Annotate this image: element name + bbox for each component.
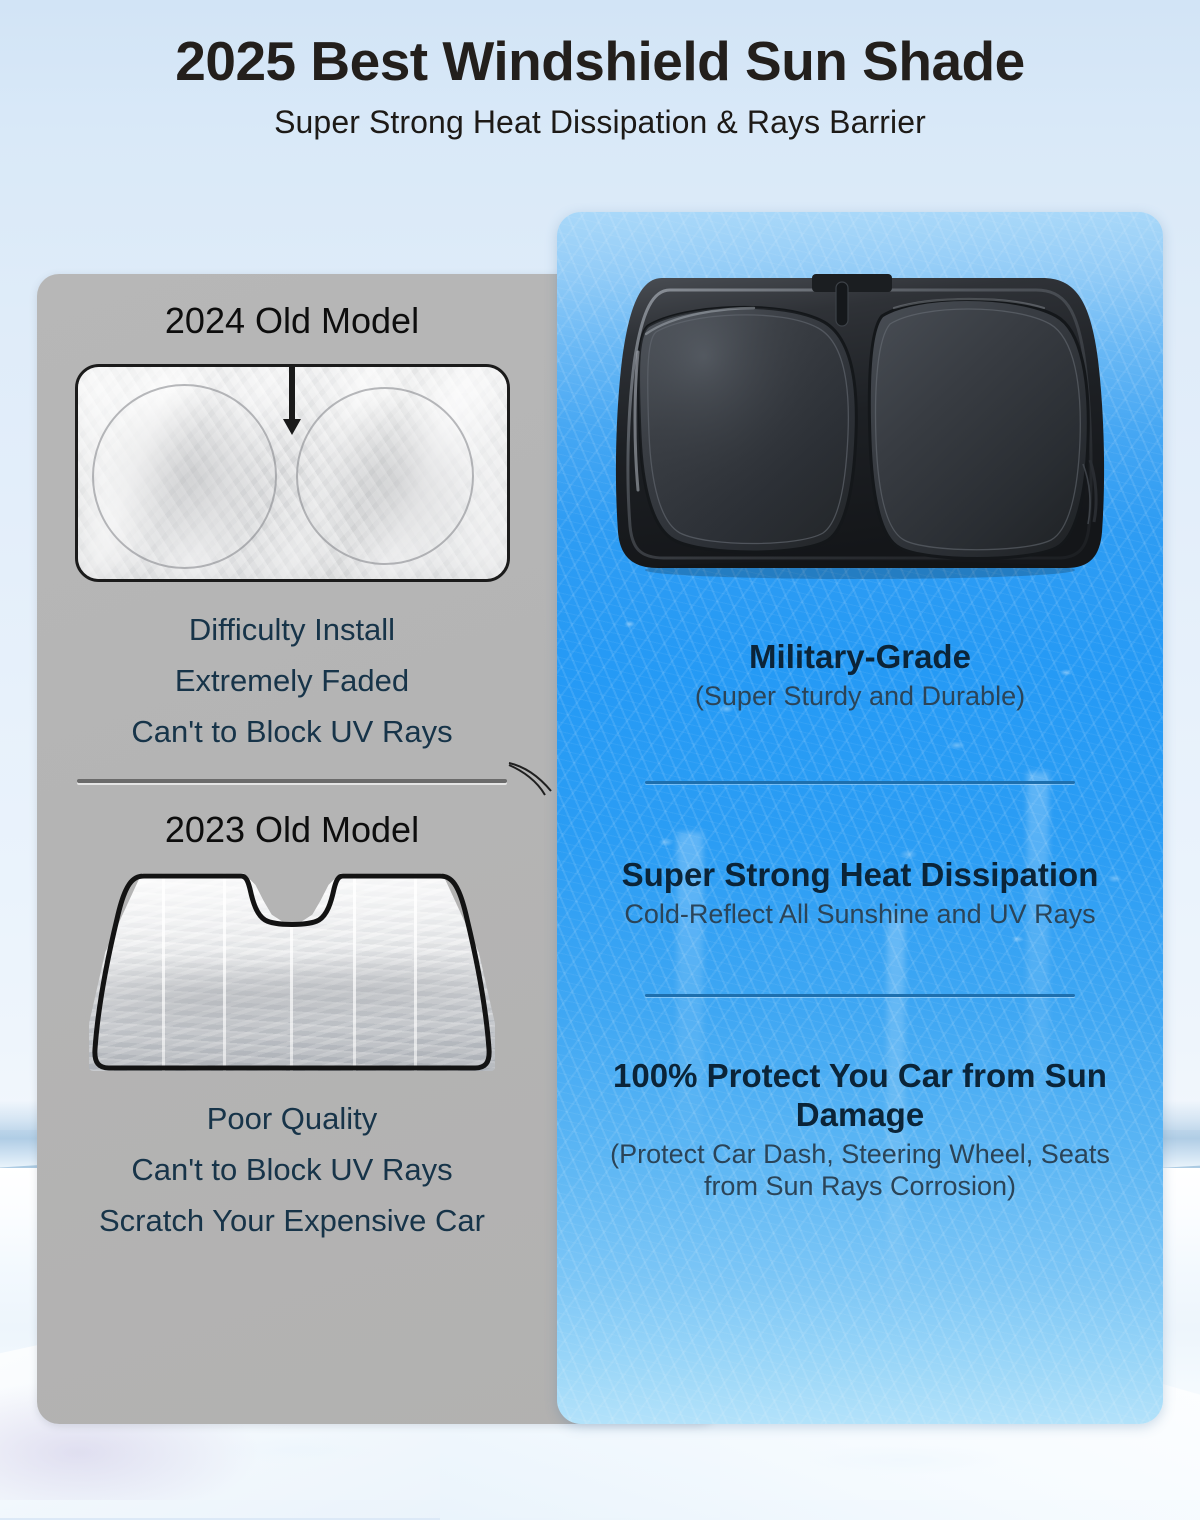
feature-block-sun-protection: 100% Protect You Car from Sun Damage (Pr…	[557, 1057, 1163, 1202]
feature-subtitle: (Protect Car Dash, Steering Wheel, Seats…	[593, 1138, 1127, 1203]
page-title: 2025 Best Windshield Sun Shade	[0, 0, 1200, 90]
panel-divider	[77, 779, 507, 783]
list-item: Scratch Your Expensive Car	[37, 1195, 547, 1246]
sun-shade-2024-image	[37, 364, 547, 582]
mirror-notch-icon	[283, 419, 301, 435]
list-item: Poor Quality	[37, 1093, 547, 1144]
old-model-section-2023: 2023 Old Model Poor Quality	[37, 809, 547, 1246]
sun-shade-2025-image	[557, 212, 1163, 588]
product-sunshade-svg	[604, 264, 1116, 588]
list-item: Difficulty Install	[37, 604, 547, 655]
feature-subtitle: Cold-Reflect All Sunshine and UV Rays	[557, 898, 1163, 930]
feature-block-military-grade: Military-Grade (Super Sturdy and Durable…	[557, 638, 1163, 713]
feature-title: 100% Protect You Car from Sun Damage	[593, 1057, 1127, 1134]
list-item: Can't to Block UV Rays	[37, 1144, 547, 1195]
loose-strap-icon	[507, 761, 553, 805]
drawbacks-list-2024: Difficulty Install Extremely Faded Can't…	[37, 604, 547, 757]
drawbacks-list-2023: Poor Quality Can't to Block UV Rays Scra…	[37, 1093, 547, 1246]
list-item: Extremely Faded	[37, 655, 547, 706]
feature-title: Super Strong Heat Dissipation	[557, 856, 1163, 894]
sun-shade-2023-image	[37, 873, 547, 1071]
old-model-section-2024: 2024 Old Model Difficulty Install Extrem…	[37, 300, 547, 757]
page-subtitle: Super Strong Heat Dissipation & Rays Bar…	[0, 90, 1200, 141]
header: 2025 Best Windshield Sun Shade Super Str…	[0, 0, 1200, 141]
feature-title: Military-Grade	[557, 638, 1163, 676]
list-item: Can't to Block UV Rays	[37, 706, 547, 757]
section-heading-2024: 2024 Old Model	[37, 300, 547, 342]
new-model-panel: Military-Grade (Super Sturdy and Durable…	[557, 212, 1163, 1424]
mirror-slot-icon	[289, 364, 295, 425]
section-heading-2023: 2023 Old Model	[37, 809, 547, 851]
feature-subtitle: (Super Sturdy and Durable)	[557, 680, 1163, 712]
lens-circle-left-icon	[92, 384, 277, 569]
feature-block-heat-dissipation: Super Strong Heat Dissipation Cold-Refle…	[557, 856, 1163, 931]
feature-divider	[645, 994, 1075, 997]
feature-divider	[645, 781, 1075, 784]
lens-circle-right-icon	[296, 387, 474, 565]
